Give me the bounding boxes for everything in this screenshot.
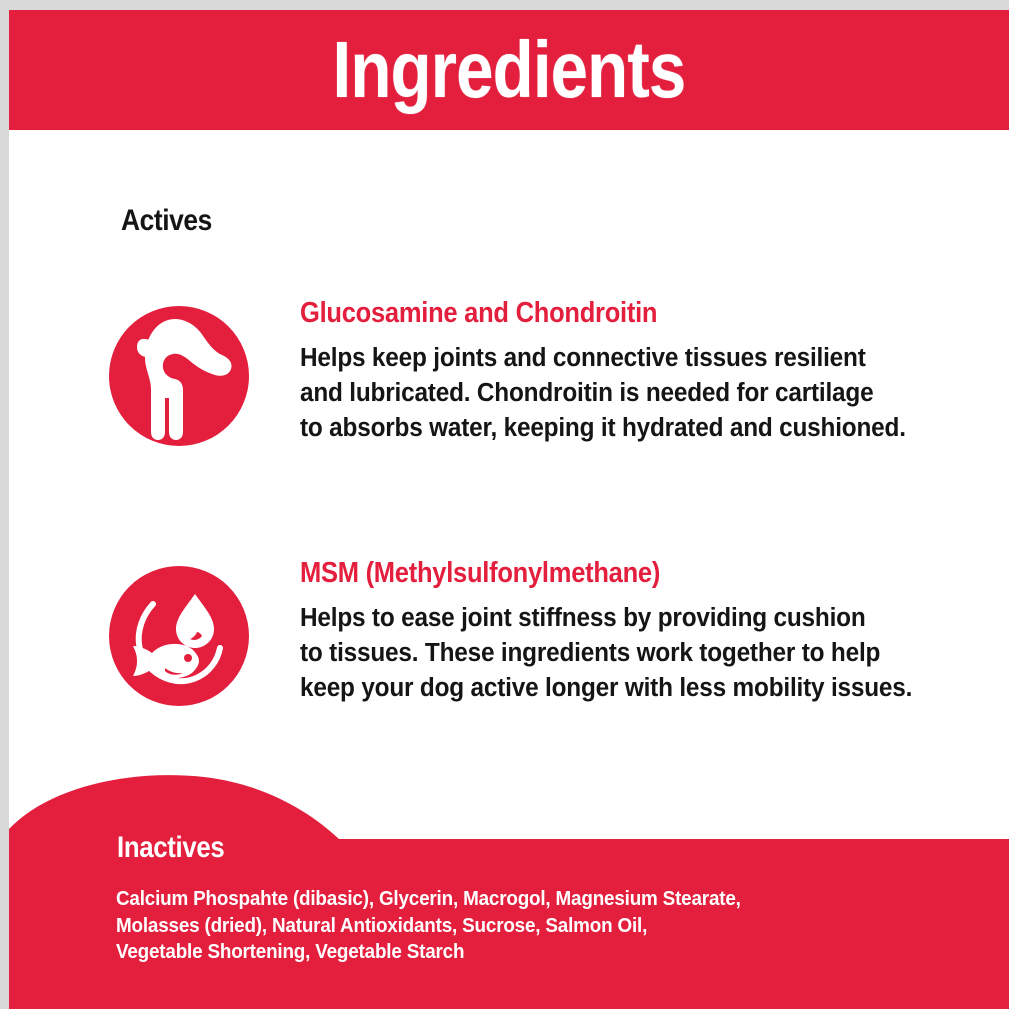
ingredient-text-block: Glucosamine and Chondroitin Helps keep j… <box>300 298 1000 446</box>
actives-section-label: Actives <box>121 204 212 238</box>
fish-oil-drop-icon <box>109 566 249 706</box>
inactives-content: Inactives Calcium Phospahte (dibasic), G… <box>9 769 1009 1009</box>
inactives-list-line: Calcium Phospahte (dibasic), Glycerin, M… <box>116 886 741 913</box>
ingredient-body-line: Helps keep joints and connective tissues… <box>300 341 969 376</box>
inactives-list-line: Vegetable Shortening, Vegetable Starch <box>116 939 741 966</box>
inactives-panel: Inactives Calcium Phospahte (dibasic), G… <box>9 769 1009 1009</box>
ingredient-body: Helps to ease joint stiffness by providi… <box>300 601 969 706</box>
ingredient-text-block: MSM (Methylsulfonylmethane) Helps to eas… <box>300 558 1000 706</box>
ingredients-card: Ingredients Actives Glucosamine and Chon… <box>9 10 1009 1009</box>
ingredients-panel-page: Ingredients Actives Glucosamine and Chon… <box>0 0 1009 1009</box>
header-banner: Ingredients <box>9 10 1009 130</box>
ingredient-body: Helps keep joints and connective tissues… <box>300 341 969 446</box>
inactives-list: Calcium Phospahte (dibasic), Glycerin, M… <box>116 886 741 966</box>
page-title: Ingredients <box>89 10 929 130</box>
bone-joint-icon <box>109 306 249 446</box>
inactives-section-label: Inactives <box>117 831 224 865</box>
ingredient-body-line: to tissues. These ingredients work toget… <box>300 636 969 671</box>
ingredient-body-line: keep your dog active longer with less mo… <box>300 671 969 706</box>
ingredient-body-line: and lubricated. Chondroitin is needed fo… <box>300 376 969 411</box>
ingredient-body-line: Helps to ease joint stiffness by providi… <box>300 601 969 636</box>
ingredient-heading: MSM (Methylsulfonylmethane) <box>300 558 916 590</box>
ingredient-body-line: to absorbs water, keeping it hydrated an… <box>300 411 969 446</box>
ingredient-heading: Glucosamine and Chondroitin <box>300 298 916 330</box>
inactives-list-line: Molasses (dried), Natural Antioxidants, … <box>116 913 741 940</box>
